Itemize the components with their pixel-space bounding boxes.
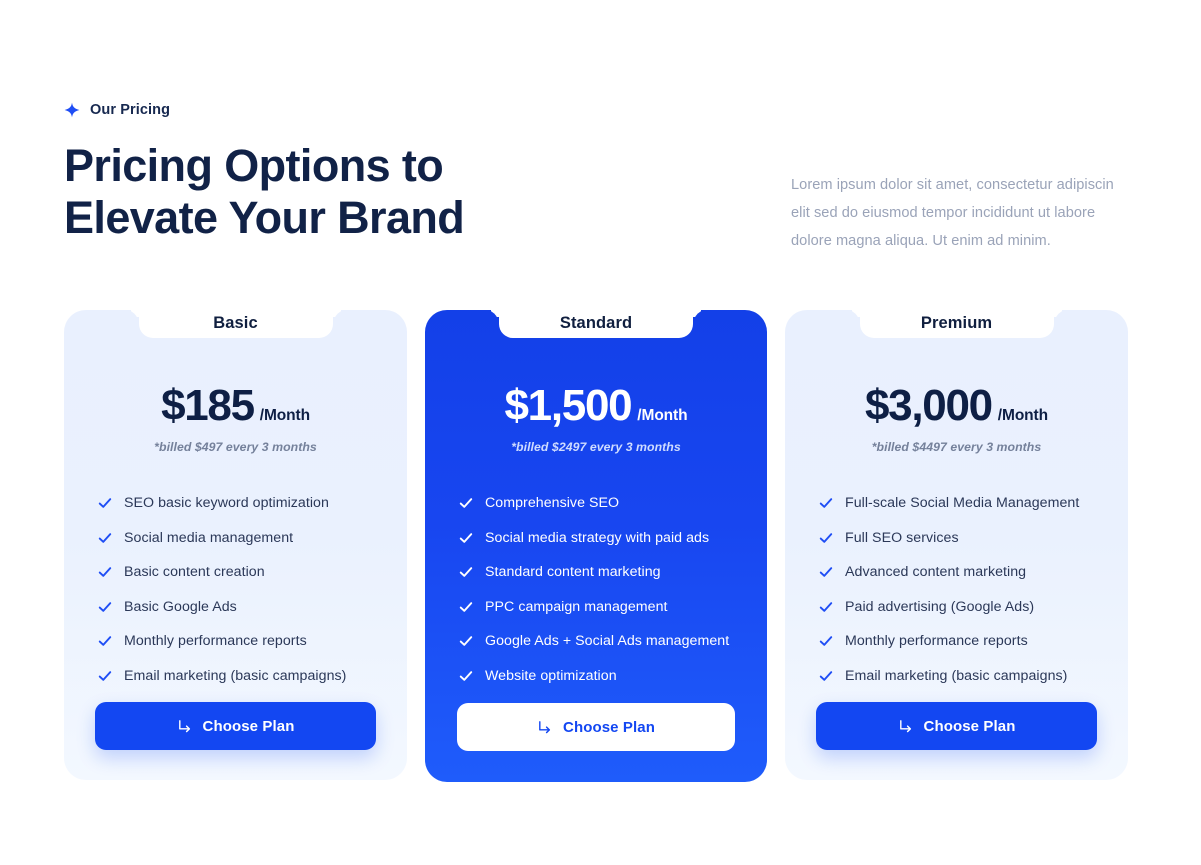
plan-name-tab: Premium [860,309,1054,338]
plan-price-period: /Month [998,407,1048,425]
check-icon [98,634,112,648]
plan-price-row: $1,500/Month [425,384,767,428]
choose-plan-label: Choose Plan [924,718,1016,735]
plan-feature-list: Comprehensive SEOSocial media strategy w… [425,486,767,693]
choose-plan-button[interactable]: Choose Plan [457,703,735,751]
plan-feature-label: Social media management [124,530,293,546]
check-icon [819,496,833,510]
choose-plan-label: Choose Plan [203,718,295,735]
check-icon [819,669,833,683]
plan-feature-item: Advanced content marketing [819,555,1128,590]
plan-price-block: $1,500/Month*billed $2497 every 3 months [425,384,767,454]
check-icon [459,600,473,614]
page-title-line-1: Pricing Options to [64,140,704,192]
section-description: Lorem ipsum dolor sit amet, consectetur … [791,171,1136,255]
plan-feature-item: Website optimization [459,659,767,694]
plan-feature-item: Monthly performance reports [819,624,1128,659]
page-title-line-2: Elevate Your Brand [64,192,704,244]
plan-name: Basic [213,314,258,333]
plan-feature-item: Full-scale Social Media Management [819,486,1128,521]
plan-feature-label: Advanced content marketing [845,564,1026,580]
plan-price-amount: $185 [161,384,254,428]
pricing-page: Our Pricing Pricing Options to Elevate Y… [0,0,1201,865]
pricing-card-basic: Basic$185/Month*billed $497 every 3 mont… [64,310,407,780]
plan-name-tab: Standard [499,309,693,338]
plan-price-block: $185/Month*billed $497 every 3 months [64,384,407,454]
arrow-down-right-icon [898,719,913,734]
plan-feature-label: Email marketing (basic campaigns) [845,668,1067,684]
pricing-card-list: Basic$185/Month*billed $497 every 3 mont… [64,310,1128,782]
plan-feature-item: SEO basic keyword optimization [98,486,407,521]
section-eyebrow: Our Pricing [64,102,170,118]
plan-feature-item: Email marketing (basic campaigns) [98,659,407,694]
plan-feature-label: SEO basic keyword optimization [124,495,329,511]
plan-name: Standard [560,314,632,333]
plan-feature-label: Email marketing (basic campaigns) [124,668,346,684]
check-icon [459,634,473,648]
plan-name-tab: Basic [139,309,333,338]
check-icon [819,531,833,545]
sparkle-icon [64,102,80,118]
plan-feature-item: Email marketing (basic campaigns) [819,659,1128,694]
plan-name: Premium [921,314,992,333]
check-icon [819,600,833,614]
plan-feature-list: SEO basic keyword optimizationSocial med… [64,486,407,693]
plan-price-amount: $3,000 [865,384,992,428]
plan-feature-item: Basic content creation [98,555,407,590]
plan-feature-item: Social media management [98,521,407,556]
arrow-down-right-icon [177,719,192,734]
plan-billing-note: *billed $4497 every 3 months [785,440,1128,454]
plan-feature-item: Comprehensive SEO [459,486,767,521]
plan-feature-label: Full SEO services [845,530,959,546]
eyebrow-label: Our Pricing [90,102,170,118]
plan-feature-item: Social media strategy with paid ads [459,521,767,556]
plan-feature-label: Full-scale Social Media Management [845,495,1079,511]
plan-price-amount: $1,500 [505,384,632,428]
plan-feature-item: Google Ads + Social Ads management [459,624,767,659]
plan-feature-label: Social media strategy with paid ads [485,530,709,546]
check-icon [98,600,112,614]
check-icon [98,565,112,579]
check-icon [98,496,112,510]
plan-feature-label: Google Ads + Social Ads management [485,633,729,649]
plan-feature-item: PPC campaign management [459,590,767,625]
page-title: Pricing Options to Elevate Your Brand [64,140,704,244]
plan-feature-item: Basic Google Ads [98,590,407,625]
check-icon [819,565,833,579]
check-icon [819,634,833,648]
plan-feature-label: Comprehensive SEO [485,495,619,511]
plan-feature-label: Monthly performance reports [124,633,307,649]
check-icon [459,565,473,579]
pricing-card-standard: Standard$1,500/Month*billed $2497 every … [425,310,767,782]
plan-price-row: $185/Month [64,384,407,428]
choose-plan-label: Choose Plan [563,719,655,736]
check-icon [459,531,473,545]
plan-feature-label: PPC campaign management [485,599,668,615]
plan-price-row: $3,000/Month [785,384,1128,428]
plan-feature-label: Basic Google Ads [124,599,237,615]
plan-feature-label: Paid advertising (Google Ads) [845,599,1034,615]
plan-feature-label: Basic content creation [124,564,265,580]
plan-billing-note: *billed $2497 every 3 months [425,440,767,454]
choose-plan-button[interactable]: Choose Plan [95,702,376,750]
plan-feature-label: Website optimization [485,668,617,684]
plan-price-period: /Month [260,407,310,425]
pricing-card-premium: Premium$3,000/Month*billed $4497 every 3… [785,310,1128,780]
plan-feature-list: Full-scale Social Media ManagementFull S… [785,486,1128,693]
choose-plan-button[interactable]: Choose Plan [816,702,1097,750]
plan-billing-note: *billed $497 every 3 months [64,440,407,454]
check-icon [459,496,473,510]
plan-feature-item: Standard content marketing [459,555,767,590]
plan-price-period: /Month [637,407,687,425]
plan-feature-label: Monthly performance reports [845,633,1028,649]
check-icon [98,531,112,545]
plan-price-block: $3,000/Month*billed $4497 every 3 months [785,384,1128,454]
check-icon [459,669,473,683]
plan-feature-item: Monthly performance reports [98,624,407,659]
arrow-down-right-icon [537,720,552,735]
check-icon [98,669,112,683]
plan-feature-item: Full SEO services [819,521,1128,556]
plan-feature-label: Standard content marketing [485,564,661,580]
plan-feature-item: Paid advertising (Google Ads) [819,590,1128,625]
